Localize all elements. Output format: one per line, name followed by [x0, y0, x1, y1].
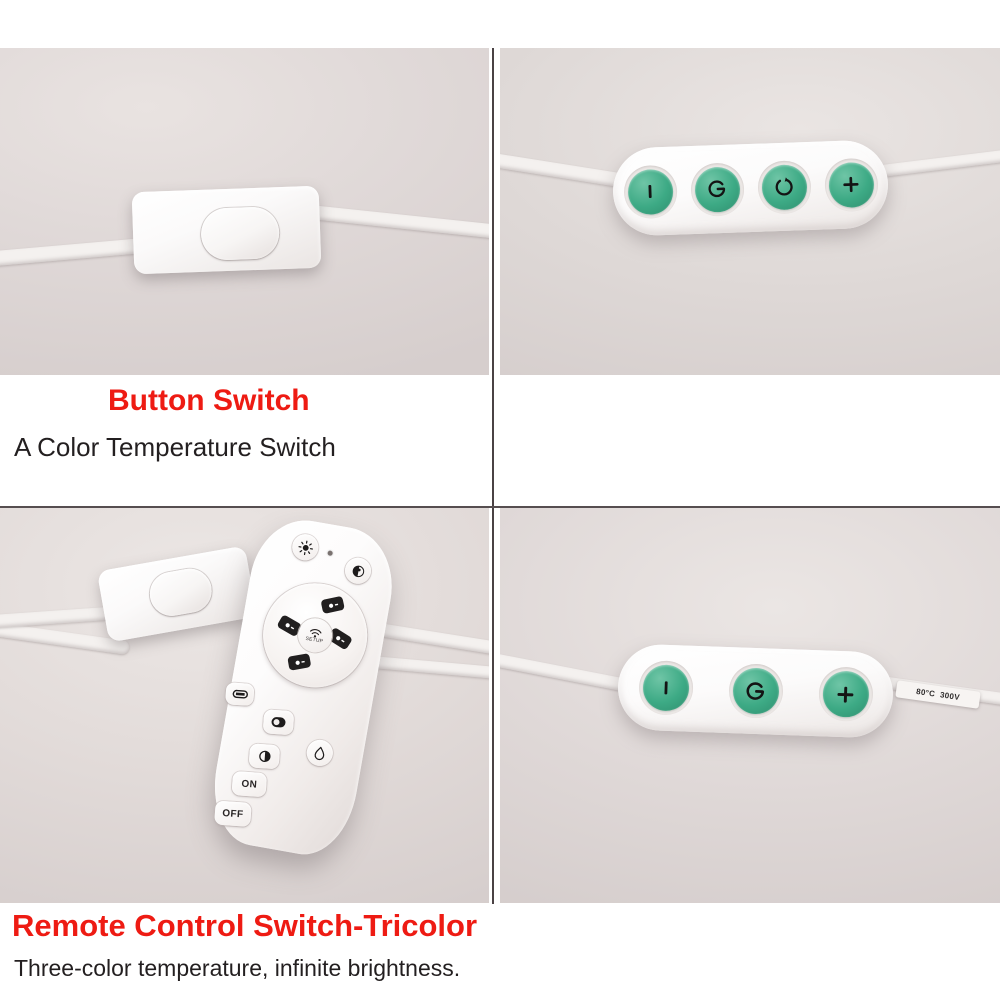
color-temp-key[interactable]	[263, 709, 295, 735]
dpad-down-key[interactable]	[287, 653, 311, 671]
moon-icon	[349, 562, 366, 579]
panel-button-switch	[0, 48, 489, 375]
product-image-sheet: SETUP	[0, 0, 1000, 1000]
button-well[interactable]	[757, 159, 812, 214]
scene-up-icon	[325, 599, 341, 611]
minus-bar-icon	[640, 181, 661, 202]
sun-brightness-icon	[297, 539, 314, 556]
half-moon-icon	[269, 715, 288, 730]
dpad-up-key[interactable]	[320, 596, 344, 614]
horizontal-divider	[0, 506, 1000, 508]
dpad-setup-label: SETUP	[305, 637, 323, 645]
caption-remote-control-title: Remote Control Switch-Tricolor	[12, 908, 477, 944]
vertical-divider-middle	[492, 376, 494, 510]
loop-key[interactable]	[225, 682, 254, 706]
dpad-setup-button[interactable]: SETUP	[295, 616, 334, 655]
power-button[interactable]	[732, 667, 780, 715]
minus-bar-icon	[655, 678, 676, 699]
rocker-switch-button[interactable]	[200, 206, 280, 261]
tricolor-switch-body[interactable]	[617, 643, 895, 739]
vertical-divider-bottom	[492, 508, 494, 904]
minus-bar-button[interactable]	[627, 168, 674, 215]
vertical-divider-top	[492, 48, 494, 376]
refresh-cycle-button[interactable]	[761, 164, 808, 211]
contrast-circle-icon	[255, 749, 273, 764]
cable-temperature-rating: 80°C	[916, 687, 936, 699]
plus-icon	[840, 173, 863, 196]
power-button[interactable]	[694, 166, 741, 213]
contrast-key[interactable]	[249, 743, 281, 769]
panel-color-temperature-switch	[500, 48, 1000, 375]
flame-icon	[312, 744, 328, 761]
rocker-switch-body[interactable]	[132, 186, 322, 274]
scene-down-icon	[292, 656, 307, 667]
minus-bar-button[interactable]	[642, 664, 690, 712]
power-off-label: OFF	[222, 808, 244, 820]
power-off-key[interactable]: OFF	[214, 801, 252, 827]
caption-button-switch-subtitle: A Color Temperature Switch	[14, 432, 336, 463]
power-on-label: ON	[241, 778, 258, 790]
button-well[interactable]	[818, 666, 874, 722]
rocker-switch-button[interactable]	[146, 565, 215, 619]
button-well[interactable]	[638, 660, 694, 716]
caption-button-switch-title: Button Switch	[108, 384, 310, 418]
caption-remote-control-subtitle: Three-color temperature, infinite bright…	[14, 955, 460, 982]
power-icon	[744, 679, 768, 703]
button-well[interactable]	[728, 663, 784, 719]
scene-right-icon	[332, 631, 349, 646]
button-well[interactable]	[824, 157, 879, 212]
button-well[interactable]	[690, 162, 745, 217]
cable-voltage-rating: 300V	[939, 690, 960, 702]
scene-left-icon	[281, 618, 298, 633]
power-icon	[706, 178, 729, 201]
switch-button-row	[612, 139, 890, 237]
panel-tricolor-switch: 80°C 300V	[500, 508, 1000, 903]
loop-icon	[231, 688, 249, 701]
color-temperature-switch-body[interactable]	[612, 139, 890, 237]
switch-button-row	[617, 643, 895, 739]
plus-button[interactable]	[822, 670, 870, 718]
power-on-key[interactable]: ON	[232, 771, 268, 797]
panel-remote-control-switch: SETUP	[0, 508, 489, 903]
refresh-cycle-icon	[773, 175, 796, 198]
button-well[interactable]	[623, 164, 678, 219]
plus-icon	[834, 682, 858, 706]
plus-button[interactable]	[828, 161, 875, 208]
